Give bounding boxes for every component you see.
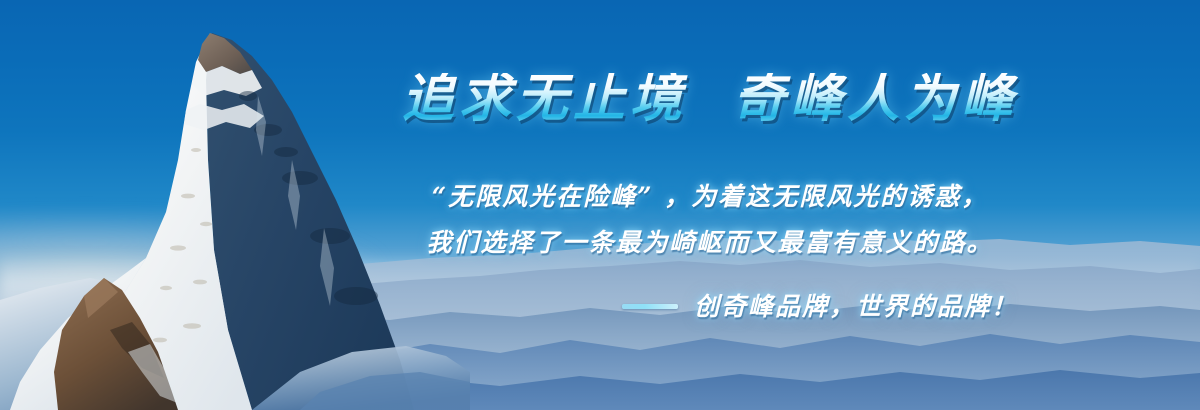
- subtitle-line-2: 我们选择了一条最为崎岖而又最富有意义的路。: [380, 230, 1040, 255]
- page-title: 追求无止境 奇峰人为峰: [382, 73, 1038, 125]
- tagline-text: 创奇峰品牌，世界的品牌！: [694, 294, 1018, 319]
- subtitle-line-1: “无限风光在险峰” ，为着这无限风光的诱惑，: [380, 184, 1040, 209]
- em-dash-icon: [622, 304, 678, 309]
- tagline-row: 创奇峰品牌，世界的品牌！: [380, 294, 1040, 319]
- banner-copy: 追求无止境 奇峰人为峰 “无限风光在险峰” ，为着这无限风光的诱惑， 我们选择了…: [380, 0, 1040, 410]
- hero-banner: 追求无止境 奇峰人为峰 “无限风光在险峰” ，为着这无限风光的诱惑， 我们选择了…: [0, 0, 1200, 410]
